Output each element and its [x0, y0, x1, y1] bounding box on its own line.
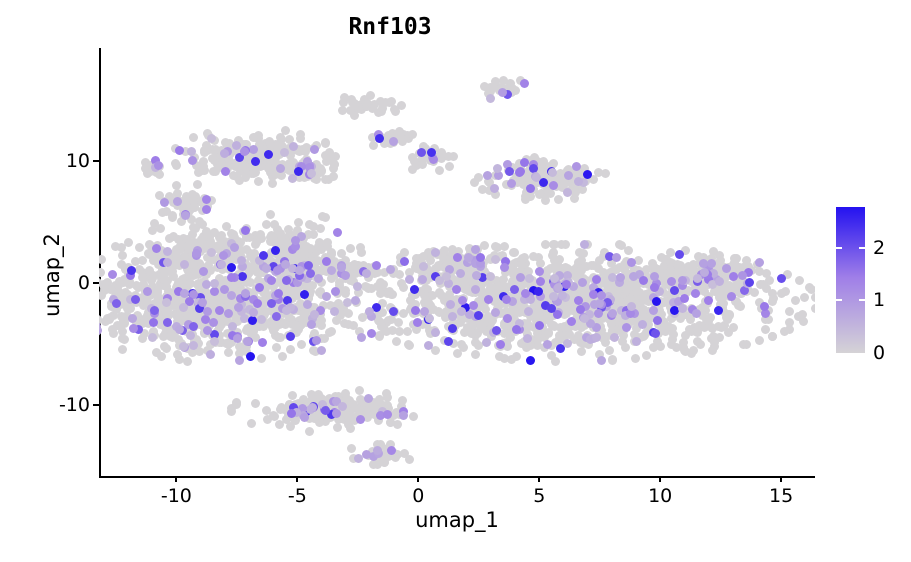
- scatter-point: [118, 345, 127, 354]
- scatter-point: [269, 411, 278, 420]
- scatter-point: [484, 295, 493, 304]
- scatter-point: [529, 252, 538, 261]
- scatter-point: [435, 166, 444, 175]
- x-tick-label: -10: [161, 485, 192, 507]
- colorbar: 012: [836, 207, 865, 353]
- scatter-point: [211, 145, 220, 154]
- colorbar-tick-mark: [859, 299, 865, 301]
- scatter-point: [330, 160, 339, 169]
- scatter-point: [357, 333, 366, 342]
- scatter-point: [418, 160, 427, 169]
- scatter-point: [592, 333, 601, 342]
- plot-title: Rnf103: [0, 14, 780, 40]
- scatter-point: [547, 304, 556, 313]
- scatter-point: [452, 285, 461, 294]
- scatter-point: [209, 318, 218, 327]
- scatter-point: [651, 329, 660, 338]
- scatter-point: [400, 257, 409, 266]
- scatter-point: [278, 352, 287, 361]
- scatter-point: [189, 196, 198, 205]
- scatter-point: [502, 295, 511, 304]
- scatter-point: [282, 306, 291, 315]
- scatter-point: [228, 322, 237, 331]
- scatter-point: [624, 246, 633, 255]
- scatter-point: [622, 285, 631, 294]
- scatter-point: [583, 170, 592, 179]
- scatter-point: [148, 333, 157, 342]
- colorbar-tick-mark: [859, 247, 865, 249]
- scatter-point: [693, 274, 702, 283]
- scatter-point: [722, 264, 731, 273]
- scatter-point: [532, 173, 541, 182]
- scatter-point: [173, 197, 182, 206]
- scatter-point: [175, 146, 184, 155]
- scatter-point: [100, 283, 109, 292]
- scatter-point: [118, 251, 127, 260]
- x-tick-label: 5: [533, 485, 545, 507]
- scatter-point: [257, 354, 266, 363]
- scatter-point: [138, 256, 147, 265]
- scatter-point: [425, 314, 434, 323]
- scatter-point: [709, 247, 718, 256]
- scatter-point: [291, 236, 300, 245]
- scatter-point: [286, 332, 295, 341]
- scatter-point: [286, 345, 295, 354]
- scatter-point: [348, 98, 357, 107]
- scatter-point: [154, 161, 163, 170]
- scatter-point: [203, 307, 212, 316]
- scatter-point: [246, 352, 255, 361]
- scatter-point: [410, 285, 419, 294]
- scatter-point: [281, 126, 290, 135]
- scatter-point: [333, 423, 342, 432]
- scatter-point: [395, 327, 404, 336]
- scatter-point: [331, 287, 340, 296]
- scatter-point: [175, 355, 184, 364]
- scatter-point: [486, 94, 495, 103]
- scatter-point: [174, 278, 183, 287]
- scatter-point: [470, 178, 479, 187]
- scatter-point: [312, 336, 321, 345]
- scatter-point: [632, 337, 641, 346]
- scatter-point: [227, 291, 236, 300]
- scatter-point: [755, 258, 764, 267]
- scatter-point: [800, 293, 809, 302]
- scatter-point: [199, 267, 208, 276]
- scatter-point: [291, 321, 300, 330]
- scatter-point: [322, 292, 331, 301]
- scatter-point: [612, 253, 621, 262]
- scatter-point: [650, 272, 659, 281]
- scatter-point: [230, 243, 239, 252]
- scatter-point: [353, 282, 362, 291]
- x-tick-label: 0: [412, 485, 424, 507]
- x-tick-mark: [659, 476, 661, 482]
- scatter-point: [257, 315, 266, 324]
- scatter-point: [346, 424, 355, 433]
- scatter-point: [668, 335, 677, 344]
- scatter-point: [799, 317, 808, 326]
- scatter-point: [297, 340, 306, 349]
- y-tick-label: 10: [66, 150, 90, 172]
- scatter-point: [692, 309, 701, 318]
- scatter-point: [811, 293, 815, 302]
- scatter-point: [251, 399, 260, 408]
- scatter-point: [202, 205, 211, 214]
- scatter-point: [307, 320, 316, 329]
- scatter-point: [288, 391, 297, 400]
- scatter-point: [411, 306, 420, 315]
- scatter-point: [807, 285, 815, 294]
- y-tick-mark: [93, 160, 99, 162]
- scatter-point: [332, 409, 341, 418]
- scatter-point: [768, 297, 777, 306]
- scatter-point: [262, 264, 271, 273]
- umap-feature-plot: Rnf103 -10-5051015100-10 umap_1 umap_2 0…: [0, 0, 911, 562]
- scatter-point: [563, 188, 572, 197]
- scatter-point: [608, 356, 617, 365]
- scatter-point: [483, 171, 492, 180]
- scatter-point: [629, 272, 638, 281]
- scatter-point: [578, 278, 587, 287]
- scatter-point: [99, 268, 105, 277]
- scatter-point: [693, 326, 702, 335]
- scatter-point: [707, 259, 716, 268]
- colorbar-tick-label: 0: [873, 342, 885, 364]
- scatter-point: [296, 134, 305, 143]
- scatter-point: [258, 338, 267, 347]
- scatter-point: [237, 256, 246, 265]
- scatter-point: [287, 409, 296, 418]
- scatter-point: [576, 305, 585, 314]
- scatter-point: [577, 347, 586, 356]
- scatter-point: [459, 343, 468, 352]
- scatter-point: [496, 340, 505, 349]
- x-tick-label: -5: [288, 485, 307, 507]
- scatter-point: [742, 340, 751, 349]
- scatter-point: [273, 266, 282, 275]
- scatter-point: [482, 338, 491, 347]
- scatter-point: [392, 337, 401, 346]
- scatter-point: [219, 251, 228, 260]
- scatter-point: [162, 282, 171, 291]
- scatter-point: [524, 307, 533, 316]
- scatter-point: [112, 299, 121, 308]
- colorbar-tick-label: 2: [873, 237, 885, 259]
- scatter-point: [373, 446, 382, 455]
- scatter-point: [710, 338, 719, 347]
- y-tick-mark: [93, 404, 99, 406]
- scatter-point: [179, 303, 188, 312]
- scatter-point: [574, 177, 583, 186]
- scatter-point: [681, 331, 690, 340]
- scatter-point: [471, 285, 480, 294]
- scatter-point: [498, 88, 507, 97]
- scatter-point: [264, 150, 273, 159]
- scatter-point: [493, 164, 502, 173]
- scatter-point: [174, 235, 183, 244]
- scatter-point: [638, 320, 647, 329]
- scatter-point: [693, 337, 702, 346]
- scatter-point: [417, 148, 426, 157]
- scatter-point: [234, 303, 243, 312]
- scatter-point: [520, 79, 529, 88]
- scatter-point: [272, 312, 281, 321]
- scatter-point: [266, 210, 275, 219]
- scatter-point: [99, 255, 106, 264]
- scatter-point: [704, 296, 713, 305]
- colorbar-tick-mark: [836, 299, 842, 301]
- colorbar-tick-label: 1: [873, 289, 885, 311]
- scatter-point: [541, 240, 550, 249]
- scatter-point: [558, 291, 567, 300]
- scatter-point: [759, 280, 768, 289]
- scatter-point: [193, 180, 202, 189]
- scatter-point: [597, 356, 606, 365]
- scatter-point: [670, 286, 679, 295]
- scatter-point: [159, 271, 168, 280]
- scatter-point: [165, 234, 174, 243]
- scatter-point: [413, 318, 422, 327]
- scatter-point: [366, 91, 375, 100]
- x-tick-mark: [417, 476, 419, 482]
- scatter-point: [143, 169, 152, 178]
- scatter-point: [458, 296, 467, 305]
- scatter-point: [777, 274, 786, 283]
- scatter-point: [811, 304, 815, 313]
- scatter-point: [675, 250, 684, 259]
- scatter-point: [117, 312, 126, 321]
- scatter-point: [405, 455, 414, 464]
- scatter-point: [725, 311, 734, 320]
- scatter-point: [109, 329, 118, 338]
- scatter-point: [708, 346, 717, 355]
- scatter-point: [419, 262, 428, 271]
- scatter-point: [276, 333, 285, 342]
- scatter-point: [289, 142, 298, 151]
- scatter-point: [760, 302, 769, 311]
- scatter-point: [247, 419, 256, 428]
- scatter-point: [435, 276, 444, 285]
- scatter-point: [149, 318, 158, 327]
- scatter-point: [333, 228, 342, 237]
- scatter-point: [162, 344, 171, 353]
- scatter-point: [383, 410, 392, 419]
- scatter-point: [534, 287, 543, 296]
- scatter-point: [391, 107, 400, 116]
- scatter-point: [408, 165, 417, 174]
- scatter-point: [181, 211, 190, 220]
- scatter-point: [505, 167, 514, 176]
- scatter-point: [197, 235, 206, 244]
- scatter-point: [322, 239, 331, 248]
- scatter-point: [791, 296, 800, 305]
- scatter-point: [305, 427, 314, 436]
- scatter-point: [133, 282, 142, 291]
- scatter-point: [249, 308, 258, 317]
- scatter-point: [745, 278, 754, 287]
- scatter-point: [338, 106, 347, 115]
- scatter-point: [521, 289, 530, 298]
- scatter-point: [403, 327, 412, 336]
- scatter-point: [152, 348, 161, 357]
- scatter-point: [548, 168, 557, 177]
- scatter-point: [316, 224, 325, 233]
- scatter-point: [785, 318, 794, 327]
- scatter-point: [727, 292, 736, 301]
- scatter-point: [650, 283, 659, 292]
- scatter-point: [535, 321, 544, 330]
- scatter-point: [363, 283, 372, 292]
- scatter-point: [567, 317, 576, 326]
- scatter-point: [616, 273, 625, 282]
- scatter-point: [580, 240, 589, 249]
- scatter-point: [777, 289, 786, 298]
- scatter-point: [689, 346, 698, 355]
- colorbar-gradient: [836, 207, 865, 353]
- scatter-point: [274, 289, 283, 298]
- scatter-point: [235, 356, 244, 365]
- scatter-point: [186, 331, 195, 340]
- scatter-point: [162, 298, 171, 307]
- scatter-point: [549, 181, 558, 190]
- scatter-point: [330, 307, 339, 316]
- scatter-point: [267, 299, 276, 308]
- scatter-point: [195, 217, 204, 226]
- scatter-point: [525, 274, 534, 283]
- scatter-point: [188, 156, 197, 165]
- scatter-point: [272, 343, 281, 352]
- scatter-point: [265, 137, 274, 146]
- scatter-point: [171, 159, 180, 168]
- scatter-point: [516, 273, 525, 282]
- scatter-point: [271, 246, 280, 255]
- scatter-point: [399, 283, 408, 292]
- scatter-point: [755, 336, 764, 345]
- scatter-point: [526, 184, 535, 193]
- scatter-point: [480, 241, 489, 250]
- scatter-point: [317, 321, 326, 330]
- scatter-point: [240, 147, 249, 156]
- scatter-point: [408, 130, 417, 139]
- scatter-point: [471, 350, 480, 359]
- colorbar-tick-mark: [836, 247, 842, 249]
- scatter-point: [324, 175, 333, 184]
- scatter-point: [610, 333, 619, 342]
- scatter-point: [652, 297, 661, 306]
- scatter-point: [768, 332, 777, 341]
- scatter-point: [435, 308, 444, 317]
- scatter-point: [446, 300, 455, 309]
- scatter-point: [346, 244, 355, 253]
- scatter-point: [325, 328, 334, 337]
- scatter-point: [180, 289, 189, 298]
- scatter-point: [189, 133, 198, 142]
- scatter-point: [207, 134, 216, 143]
- scatter-point: [294, 218, 303, 227]
- scatter-point: [409, 412, 418, 421]
- scatter-point: [322, 257, 331, 266]
- scatter-point: [175, 325, 184, 334]
- scatter-point: [632, 285, 641, 294]
- scatter-point: [232, 400, 241, 409]
- y-tick-label: 0: [78, 272, 90, 294]
- scatter-canvas: [99, 48, 815, 478]
- scatter-point: [321, 406, 330, 415]
- scatter-point: [148, 274, 157, 283]
- scatter-point: [303, 300, 312, 309]
- scatter-point: [463, 326, 472, 335]
- scatter-point: [356, 415, 365, 424]
- scatter-point: [355, 386, 364, 395]
- x-tick-label: 10: [648, 485, 672, 507]
- scatter-point: [327, 266, 336, 275]
- scatter-point: [135, 243, 144, 252]
- scatter-point: [163, 318, 172, 327]
- scatter-point: [207, 248, 216, 257]
- scatter-point: [152, 244, 161, 253]
- scatter-point: [310, 310, 319, 319]
- scatter-point: [680, 294, 689, 303]
- scatter-point: [521, 195, 530, 204]
- scatter-point: [203, 326, 212, 335]
- scatter-point: [762, 269, 771, 278]
- scatter-point: [362, 269, 371, 278]
- scatter-point: [211, 167, 220, 176]
- scatter-point: [382, 327, 391, 336]
- scatter-point: [526, 356, 535, 365]
- scatter-point: [622, 323, 631, 332]
- scatter-point: [785, 307, 794, 316]
- scatter-point: [375, 134, 384, 143]
- x-tick-label: 15: [769, 485, 793, 507]
- scatter-point: [246, 263, 255, 272]
- scatter-point: [550, 256, 559, 265]
- scatter-point: [317, 346, 326, 355]
- scatter-point: [266, 237, 275, 246]
- scatter-point: [206, 350, 215, 359]
- scatter-point: [486, 272, 495, 281]
- scatter-point: [678, 304, 687, 313]
- plot-axes: -10-5051015100-10: [99, 48, 815, 478]
- scatter-point: [557, 240, 566, 249]
- scatter-point: [364, 394, 373, 403]
- scatter-point: [554, 195, 563, 204]
- scatter-point: [491, 255, 500, 264]
- scatter-point: [653, 316, 662, 325]
- scatter-point: [457, 307, 466, 316]
- y-tick-label: -10: [59, 394, 90, 416]
- scatter-point: [405, 275, 414, 284]
- x-tick-mark: [780, 476, 782, 482]
- scatter-point: [563, 339, 572, 348]
- scatter-point: [729, 272, 738, 281]
- y-axis-label: umap_2: [40, 215, 64, 335]
- scatter-point: [200, 146, 209, 155]
- scatter-point: [127, 266, 136, 275]
- x-tick-mark: [175, 476, 177, 482]
- scatter-point: [691, 289, 700, 298]
- scatter-point: [795, 276, 804, 285]
- scatter-point: [372, 261, 381, 270]
- scatter-point: [550, 274, 559, 283]
- scatter-point: [224, 348, 233, 357]
- scatter-point: [580, 314, 589, 323]
- scatter-point: [351, 296, 360, 305]
- scatter-point: [688, 263, 697, 272]
- scatter-point: [120, 335, 129, 344]
- scatter-point: [349, 263, 358, 272]
